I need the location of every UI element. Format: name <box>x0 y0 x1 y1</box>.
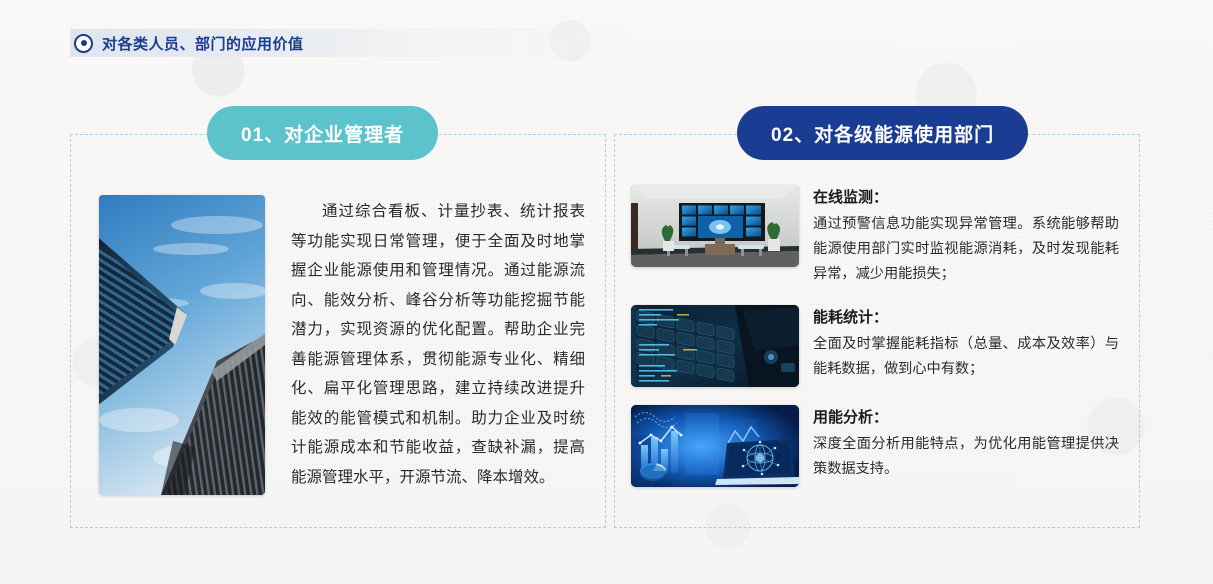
control-room-artwork <box>631 185 799 267</box>
feature-energy-statistics-body: 能耗统计： 全面及时掌握能耗指标（总量、成本及效率）与能耗数据，做到心中有数； <box>813 305 1119 382</box>
skyscraper-artwork <box>99 195 265 495</box>
skyscraper-photo <box>99 195 265 495</box>
section-header: 对各类人员、部门的应用价值 <box>70 29 630 57</box>
data-analytics-artwork <box>631 405 799 487</box>
feature-title: 能耗统计： <box>813 306 1119 330</box>
feature-energy-statistics: 能耗统计： 全面及时掌握能耗指标（总量、成本及效率）与能耗数据，做到心中有数； <box>631 305 1119 387</box>
card-left-body-text: 通过综合看板、计量抄表、统计报表等功能实现日常管理，便于全面及时地掌握企业能源使… <box>291 195 585 503</box>
feature-description: 全面及时掌握能耗指标（总量、成本及效率）与能耗数据，做到心中有数； <box>813 332 1119 382</box>
card-right-content: 在线监测： 通过预警信息功能实现异常管理。系统能够帮助能源使用部门实时监视能源消… <box>615 135 1139 527</box>
keyboard-code-photo <box>631 305 799 387</box>
card-left-content: 通过综合看板、计量抄表、统计报表等功能实现日常管理，便于全面及时地掌握企业能源使… <box>71 135 605 527</box>
data-analytics-photo <box>631 405 799 487</box>
feature-description: 通过预警信息功能实现异常管理。系统能够帮助能源使用部门实时监视能源消耗，及时发现… <box>813 212 1119 287</box>
card-enterprise-managers: 01、对企业管理者 <box>70 134 606 528</box>
page-title: 对各类人员、部门的应用价值 <box>102 33 304 54</box>
feature-description: 深度全面分析用能特点，为优化用能管理提供决策数据支持。 <box>813 432 1119 482</box>
keyboard-code-artwork <box>631 305 799 387</box>
control-room-photo <box>631 185 799 267</box>
feature-online-monitoring-body: 在线监测： 通过预警信息功能实现异常管理。系统能够帮助能源使用部门实时监视能源消… <box>813 185 1119 287</box>
feature-title: 用能分析： <box>813 406 1119 430</box>
feature-title: 在线监测： <box>813 186 1119 210</box>
card-energy-departments: 02、对各级能源使用部门 <box>614 134 1140 528</box>
feature-online-monitoring: 在线监测： 通过预警信息功能实现异常管理。系统能够帮助能源使用部门实时监视能源消… <box>631 185 1119 287</box>
ring-bullet-icon <box>74 34 93 53</box>
feature-energy-analysis-body: 用能分析： 深度全面分析用能特点，为优化用能管理提供决策数据支持。 <box>813 405 1119 482</box>
feature-energy-analysis: 用能分析： 深度全面分析用能特点，为优化用能管理提供决策数据支持。 <box>631 405 1119 487</box>
page-stage: 对各类人员、部门的应用价值 01、对企业管理者 <box>0 0 1213 584</box>
